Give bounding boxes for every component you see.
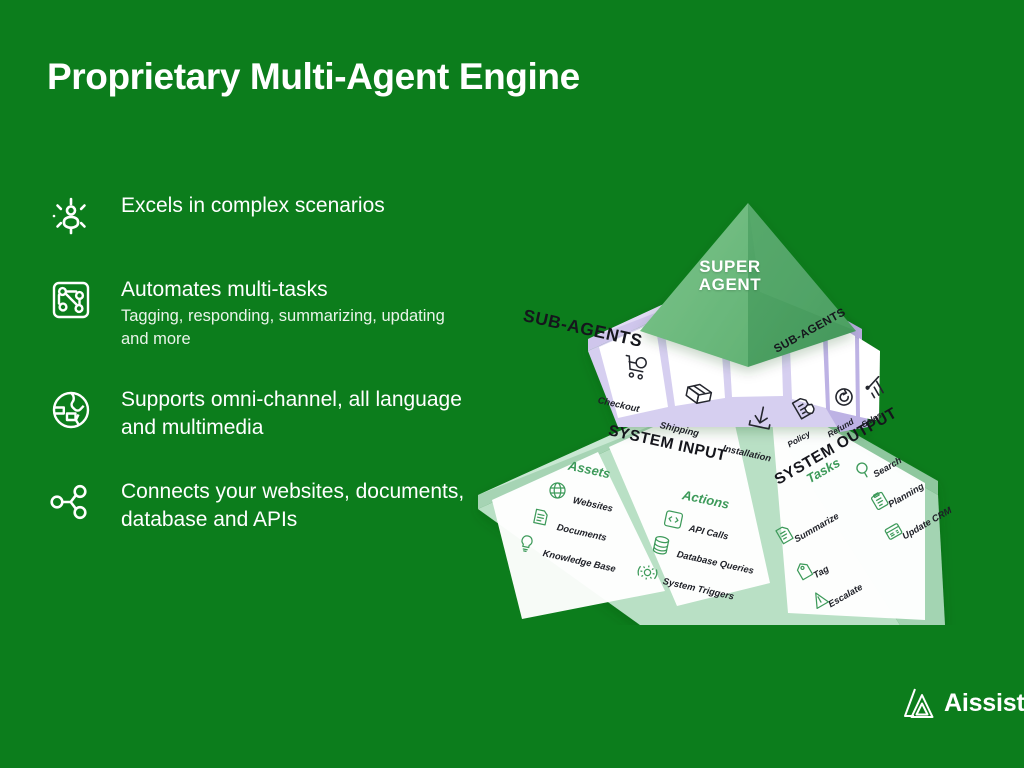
- feature-text: Automates multi-tasks Tagging, respondin…: [121, 274, 467, 350]
- feature-item-connectors: Connects your websites, documents, datab…: [47, 476, 467, 534]
- page-title: Proprietary Multi-Agent Engine: [47, 56, 580, 98]
- triangle-logo-icon: [903, 686, 937, 720]
- feature-heading: Excels in complex scenarios: [121, 192, 385, 220]
- slide-root: Proprietary Multi-Agent Engine Excels in…: [0, 0, 1024, 768]
- feature-item-automation: Automates multi-tasks Tagging, respondin…: [47, 274, 467, 350]
- feature-text: Excels in complex scenarios: [121, 190, 385, 220]
- feature-item-complex-scenarios: Excels in complex scenarios: [47, 190, 467, 240]
- pyramid-diagram: SUPER AGENT SUB-AGENTS SUB-AGENTS SYSTEM…: [470, 195, 1024, 625]
- circuit-automation-icon: [47, 276, 95, 324]
- brand-name: Aissist: [944, 689, 1024, 718]
- feature-heading: Supports omni-channel, all language and …: [121, 386, 467, 442]
- network-nodes-icon: [47, 478, 95, 526]
- brand-logo: Aissist: [903, 686, 1024, 720]
- globe-icon: [47, 386, 95, 434]
- feature-item-omnichannel: Supports omni-channel, all language and …: [47, 384, 467, 442]
- complex-scenarios-icon: [47, 192, 95, 240]
- feature-text: Supports omni-channel, all language and …: [121, 384, 467, 442]
- feature-list: Excels in complex scenarios Automate: [47, 190, 467, 568]
- feature-heading: Connects your websites, documents, datab…: [121, 478, 467, 534]
- feature-subtext: Tagging, responding, summarizing, updati…: [121, 305, 467, 351]
- feature-heading: Automates multi-tasks: [121, 276, 467, 304]
- feature-text: Connects your websites, documents, datab…: [121, 476, 467, 534]
